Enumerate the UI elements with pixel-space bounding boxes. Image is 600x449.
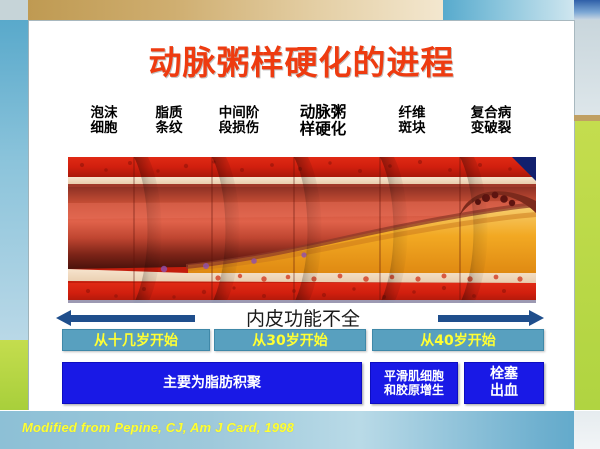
- frame-top-blue-band: [443, 0, 574, 21]
- stage-header-atheroma: 动脉粥 样硬化: [281, 104, 365, 139]
- frame-top-left-tab: [0, 0, 29, 21]
- slide-canvas: Modified from Pepine, CJ, Am J Card, 199…: [0, 0, 600, 449]
- outcome-row: 主要为脂肪积聚 平滑肌细胞 和胶原增生 栓塞 出血: [62, 362, 544, 404]
- frame-right-grey-band: [574, 20, 600, 115]
- frame-top-right-tab: [574, 0, 600, 20]
- frame-top-gold-band: [28, 0, 443, 21]
- slide-content: 动脉粥样硬化的进程 泡沫 细胞 脂质 条纹 中间阶 段损伤 动脉粥 样硬化 纤维…: [29, 21, 574, 410]
- stage-header-foam-cell: 泡沫 细胞: [69, 106, 139, 136]
- stage-header-intermediate: 中间阶 段损伤: [199, 106, 279, 136]
- age-box-thirty: 从30岁开始: [214, 329, 366, 351]
- outcome-box-thrombosis: 栓塞 出血: [464, 362, 544, 404]
- footer-right-tab: [574, 411, 600, 449]
- right-arrow-icon: [438, 315, 530, 322]
- outcome-box-smooth-muscle: 平滑肌细胞 和胶原增生: [370, 362, 458, 404]
- stage-header-fatty-streak: 脂质 条纹: [134, 106, 204, 136]
- stage-header-row: 泡沫 细胞 脂质 条纹 中间阶 段损伤 动脉粥 样硬化 纤维 斑块 复合病 变破…: [59, 106, 549, 148]
- footer-bar: Modified from Pepine, CJ, Am J Card, 199…: [0, 410, 600, 449]
- stage-header-fibrous-plaque: 纤维 斑块: [377, 106, 447, 136]
- endothelial-dysfunction-row: 内皮功能不全: [62, 304, 544, 330]
- outcome-box-lipid-accumulation: 主要为脂肪积聚: [62, 362, 362, 404]
- artery-diagram-svg: [68, 157, 536, 303]
- artery-illustration: [68, 157, 536, 303]
- frame-left-blue-band: [0, 20, 29, 340]
- page-title: 动脉粥样硬化的进程: [29, 36, 574, 84]
- age-onset-row: 从十几岁开始 从30岁开始 从40岁开始: [62, 329, 544, 351]
- age-box-forty: 从40岁开始: [372, 329, 544, 351]
- footer-credit: Modified from Pepine, CJ, Am J Card, 199…: [22, 420, 294, 435]
- stage-header-rupture: 复合病 变破裂: [449, 106, 533, 136]
- frame-right-green-band: [574, 121, 600, 410]
- age-box-teens: 从十几岁开始: [62, 329, 210, 351]
- frame-left-green-band: [0, 340, 29, 410]
